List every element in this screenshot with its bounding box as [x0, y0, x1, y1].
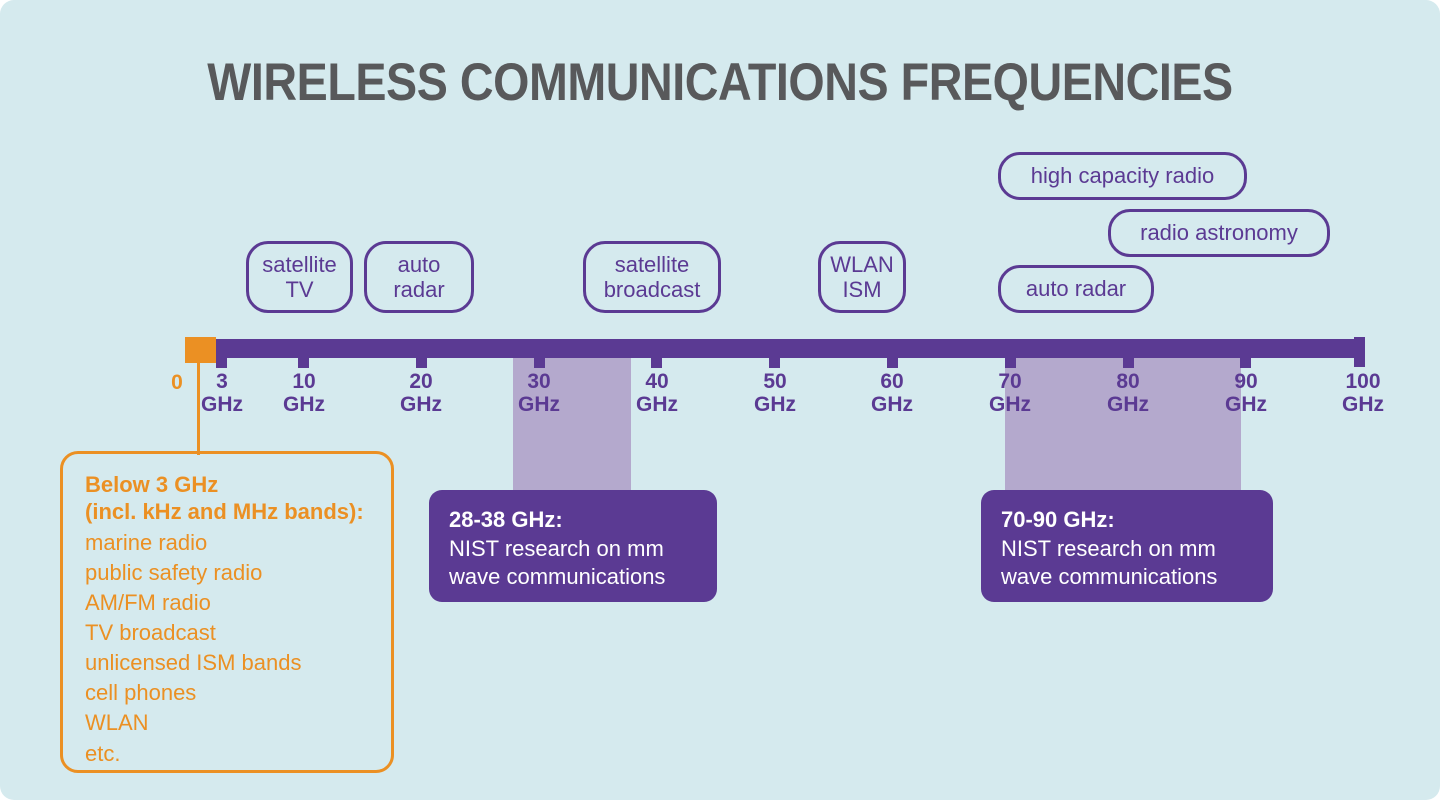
axis-label-80: 80 GHz — [1083, 371, 1173, 416]
pill-high-capacity-radio[interactable]: high capacity radio — [998, 152, 1247, 200]
legend-item-unlicensed-ism: unlicensed ISM bands — [85, 648, 369, 678]
pill-radio-astronomy[interactable]: radio astronomy — [1108, 209, 1330, 257]
axis-label-70: 70 GHz — [965, 371, 1055, 416]
callout-70-90: 70-90 GHz: NIST research on mm wave comm… — [981, 490, 1273, 602]
axis-label-30: 30 GHz — [494, 371, 584, 416]
axis-label-10: 10 GHz — [259, 371, 349, 416]
axis-zero-block — [185, 337, 216, 363]
legend-heading: Below 3 GHz (incl. kHz and MHz bands): — [85, 472, 369, 526]
axis-tick-80 — [1123, 355, 1134, 368]
axis-tick-50 — [769, 355, 780, 368]
pill-satellite-tv[interactable]: satellite TV — [246, 241, 353, 313]
axis-label-3: 3 GHz — [177, 371, 267, 416]
pill-wlan-ism[interactable]: WLAN ISM — [818, 241, 906, 313]
legend-item-public-safety-radio: public safety radio — [85, 558, 369, 588]
legend-item-wlan: WLAN — [85, 708, 369, 738]
legend-item-etc: etc. — [85, 739, 369, 769]
axis-tick-10 — [298, 355, 309, 368]
legend-item-marine-radio: marine radio — [85, 528, 369, 558]
axis-label-50: 50 GHz — [730, 371, 820, 416]
below-3ghz-legend-box: Below 3 GHz (incl. kHz and MHz bands): m… — [60, 451, 394, 773]
axis-tick-70 — [1005, 355, 1016, 368]
callout-28-38-body: NIST research on mm wave communications — [449, 535, 697, 591]
axis-tick-20 — [416, 355, 427, 368]
pill-auto-radar-low[interactable]: auto radar — [364, 241, 474, 313]
axis-end-cap — [1354, 337, 1365, 367]
axis-label-100: 100 GHz — [1318, 371, 1408, 416]
page-title: WIRELESS COMMUNICATIONS FREQUENCIES — [86, 52, 1353, 113]
axis-tick-30 — [534, 355, 545, 368]
callout-28-38: 28-38 GHz: NIST research on mm wave comm… — [429, 490, 717, 602]
axis-tick-60 — [887, 355, 898, 368]
legend-item-cell-phones: cell phones — [85, 678, 369, 708]
callout-70-90-heading: 70-90 GHz: — [1001, 506, 1253, 535]
callout-70-90-body: NIST research on mm wave communications — [1001, 535, 1253, 591]
axis-tick-40 — [651, 355, 662, 368]
pill-satellite-broadcast[interactable]: satellite broadcast — [583, 241, 721, 313]
infographic-canvas: WIRELESS COMMUNICATIONS FREQUENCIES 0 3 … — [0, 0, 1440, 800]
axis-label-40: 40 GHz — [612, 371, 702, 416]
callout-28-38-heading: 28-38 GHz: — [449, 506, 697, 535]
axis-tick-90 — [1240, 355, 1251, 368]
legend-item-am-fm-radio: AM/FM radio — [85, 588, 369, 618]
pill-auto-radar-high[interactable]: auto radar — [998, 265, 1154, 313]
axis-tick-3 — [216, 355, 227, 368]
axis-label-60: 60 GHz — [847, 371, 937, 416]
axis-label-20: 20 GHz — [376, 371, 466, 416]
legend-item-tv-broadcast: TV broadcast — [85, 618, 369, 648]
axis-label-90: 90 GHz — [1201, 371, 1291, 416]
